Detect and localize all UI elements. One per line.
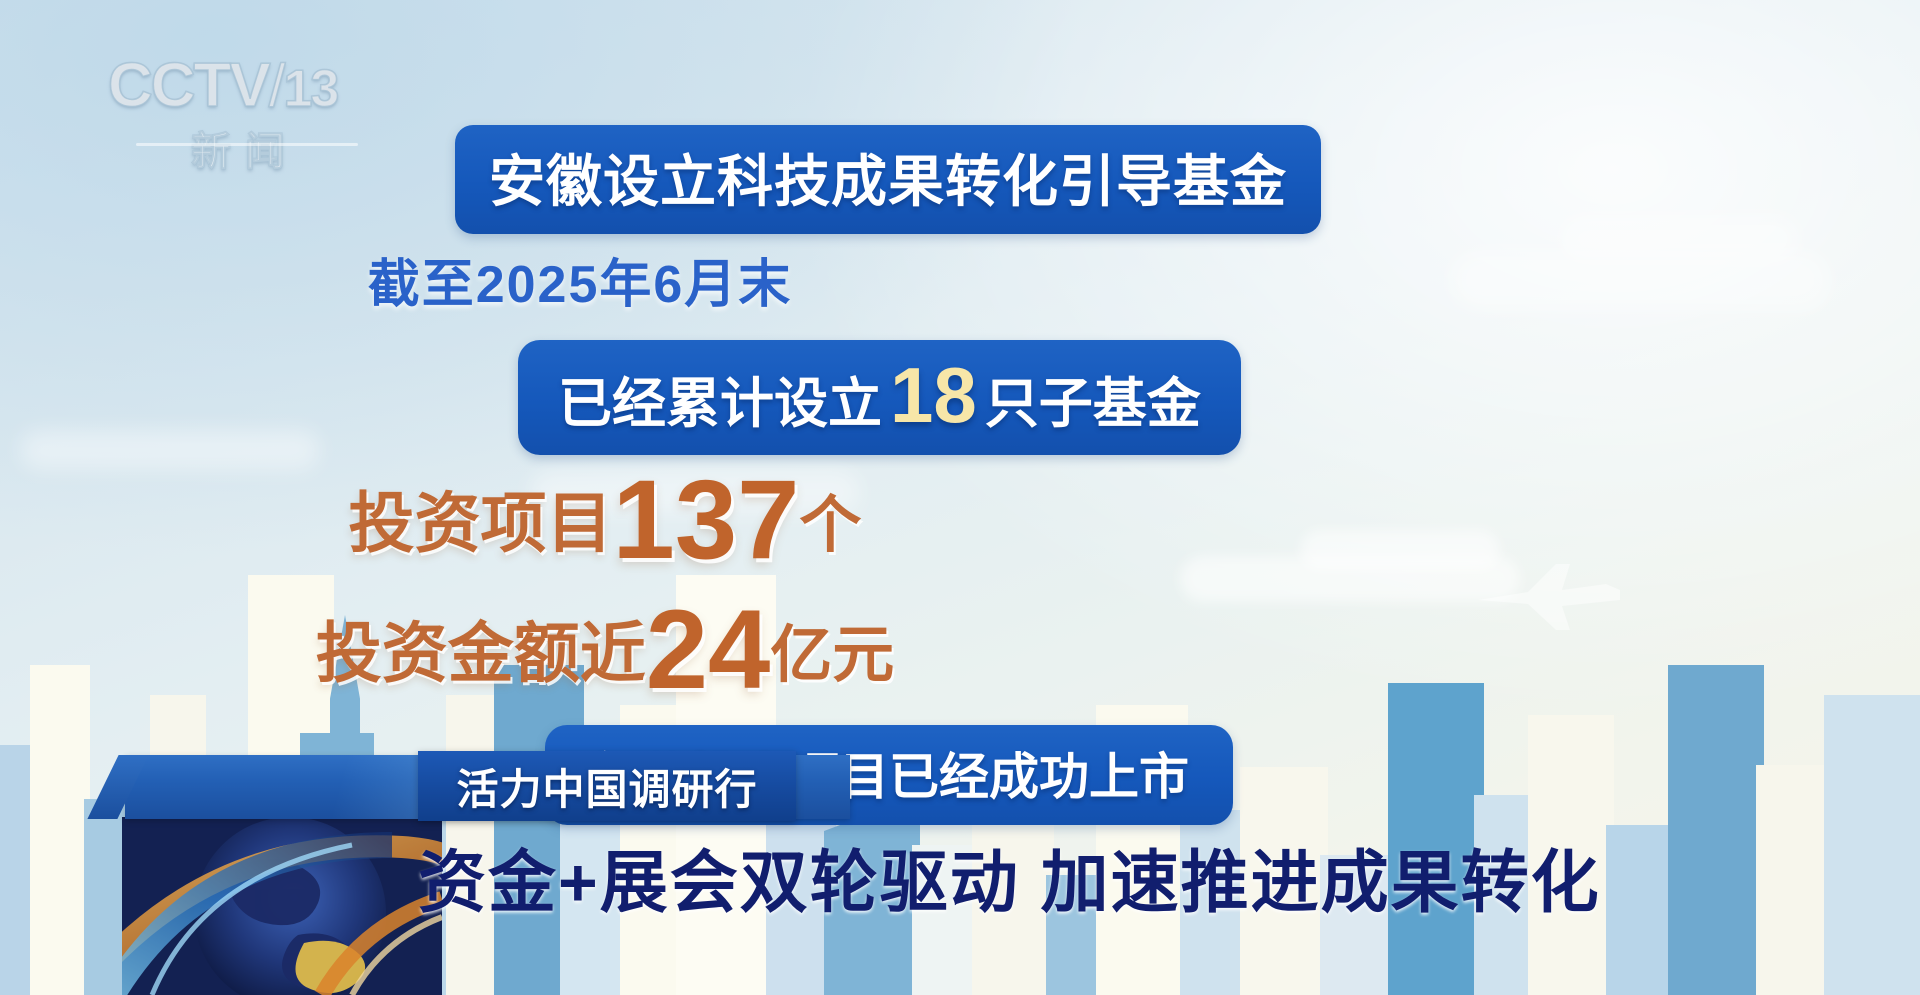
lower-third: 安徽 活力中国调研行 资金+展会双轮驱动 加速推进成果转化 xyxy=(0,735,1920,995)
logo-subtitle: 新闻 xyxy=(108,119,368,177)
logo-divider xyxy=(136,143,358,146)
logo-slash: / xyxy=(269,52,284,119)
subfund-suffix: 只子基金 xyxy=(985,374,1201,434)
infographic-date: 截至2025年6月末 xyxy=(0,242,1160,317)
stat-amount-number: 24 xyxy=(646,587,771,712)
program-label: 活力中国调研行 xyxy=(456,756,757,817)
infographic-title-pill: 安徽设立科技成果转化引导基金 xyxy=(455,125,1321,234)
stat-projects-label: 投资项目 xyxy=(349,486,613,560)
stat-projects-row: 投资项目137个 xyxy=(0,455,1210,584)
subfund-prefix: 已经累计设立 xyxy=(558,374,882,434)
headline-bar: 资金+展会双轮驱动 加速推进成果转化 xyxy=(418,821,1818,931)
program-badge: 活力中国调研行 xyxy=(418,751,796,821)
logo-channel-number: 13 xyxy=(283,60,337,118)
stat-amount-row: 投资金额近24亿元 xyxy=(0,585,1210,714)
headline-text: 资金+展会双轮驱动 加速推进成果转化 xyxy=(418,827,1601,926)
broadcast-stage: CCTV/13 新闻 安徽设立科技成果转化引导基金 截至2025年6月末 已经累… xyxy=(0,0,1920,995)
subfund-count: 18 xyxy=(882,351,985,439)
infographic-title: 安徽设立科技成果转化引导基金 xyxy=(489,137,1287,218)
stat-amount-label: 投资金额近 xyxy=(316,616,646,690)
logo-cctv-text: CCTV xyxy=(108,51,269,120)
stat-projects-unit: 个 xyxy=(799,491,861,560)
cctv13-logo: CCTV/13 新闻 xyxy=(108,55,368,185)
logo-wordmark: CCTV/13 xyxy=(108,55,368,117)
globe-icon xyxy=(122,817,442,995)
cloud-icon xyxy=(1560,215,1800,263)
subfund-pill: 已经累计设立18只子基金 xyxy=(518,340,1241,455)
stat-projects-number: 137 xyxy=(613,457,800,582)
stat-amount-unit: 亿元 xyxy=(770,621,894,690)
